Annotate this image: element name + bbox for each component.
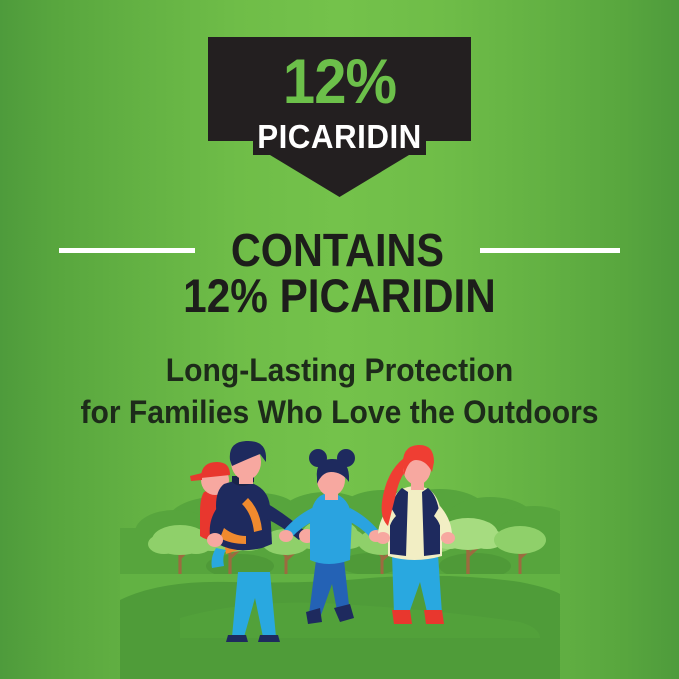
headline-line-1: CONTAINS xyxy=(231,227,444,273)
subtitle-block: Long-Lasting Protection for Families Who… xyxy=(0,349,679,433)
infographic-canvas: 12% PICARIDIN CONTAINS 12% PICARIDIN Lon… xyxy=(0,0,679,679)
headline-rule-left xyxy=(59,248,195,253)
badge-percent-label: 12% xyxy=(219,51,461,114)
family-outdoors-illustration xyxy=(120,432,560,679)
subtitle-line-1: Long-Lasting Protection xyxy=(20,349,658,391)
subtitle-line-2: for Families Who Love the Outdoors xyxy=(20,391,658,433)
headline-line-2: 12% PICARIDIN xyxy=(34,272,645,319)
badge-ingredient-label: PICARIDIN xyxy=(215,120,465,153)
illustration-svg xyxy=(120,432,560,679)
picaridin-concentration-badge: 12% PICARIDIN xyxy=(208,37,471,197)
headline-rule-right xyxy=(480,248,620,253)
